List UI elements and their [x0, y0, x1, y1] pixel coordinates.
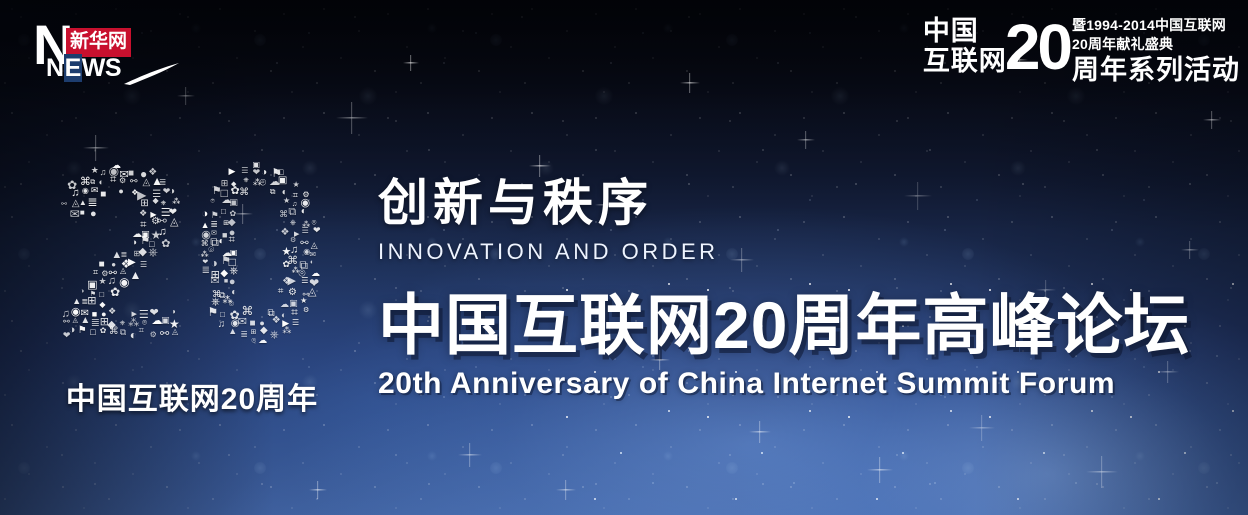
user-icon: ⌗: [229, 235, 235, 246]
play-icon: ◑: [171, 308, 176, 316]
event-lockup-big-number: 20: [1005, 14, 1070, 78]
event-lockup-line2: 互联网: [923, 46, 1007, 76]
inbox-icon: ◬: [308, 287, 316, 298]
eye-icon: ⌾: [229, 300, 234, 309]
home-icon: ⚙: [150, 331, 157, 339]
eye-icon: ⌗: [110, 175, 116, 186]
headline-block: 创新与秩序 INNOVATION AND ORDER 中国互联网20周年高峰论坛…: [378, 175, 1213, 403]
book-icon: ⌗: [293, 191, 298, 200]
title-chinese: 中国互联网20周年高峰论坛: [378, 289, 1213, 361]
briefcase-icon: ⚯: [61, 201, 67, 208]
book-icon: ▶: [228, 167, 235, 176]
contrast-icon: ◆: [139, 247, 147, 258]
heart-icon: ☁: [280, 300, 289, 309]
cloud-icon: ☰: [301, 277, 308, 285]
credit-card-icon: ✿: [100, 327, 107, 335]
emblem-caption: 中国互联网20周年: [22, 383, 362, 417]
icon-mosaic-number: ☁▣★♫◉✉■●❖▶☰❤◑⚑□✿⌘⧉◐⌗⚙⚯◬▲≣⊞◆⎈⁂⌾☁▣★♫◉✉■●❖▶…: [22, 160, 362, 375]
play-icon: ◑: [202, 209, 209, 220]
tag-icon: ⚯: [130, 177, 138, 186]
briefcase-icon: ❤: [253, 168, 261, 177]
settings-icon: ⎈: [148, 246, 158, 258]
store-icon: ✉: [210, 276, 219, 287]
wifi-icon: ◐: [99, 178, 104, 187]
icon-mosaic-emblem: ☁▣★♫◉✉■●❖▶☰❤◑⚑□✿⌘⧉◐⌗⚙⚯◬▲≣⊞◆⎈⁂⌾☁▣★♫◉✉■●❖▶…: [22, 160, 362, 415]
heart-icon: ⚙: [119, 177, 126, 185]
store-icon: ⊞: [251, 329, 257, 336]
settings-icon: ⧉: [288, 207, 296, 218]
settings-icon: ●: [118, 187, 123, 196]
shopping-basket-icon: ☰: [241, 167, 248, 175]
printer-icon: ⎈: [161, 200, 167, 207]
link-icon: ◑: [69, 325, 76, 336]
tumblr-icon: ⧉: [120, 328, 126, 337]
play-icon: ★: [98, 277, 106, 286]
heart-icon: ☰: [302, 227, 309, 235]
monitor-icon: ✉: [238, 317, 247, 328]
paper-plane-icon: ◐: [301, 207, 307, 217]
list-icon: □: [220, 311, 225, 319]
play-icon: ◬: [311, 241, 318, 250]
code-icon: ▲: [130, 269, 142, 281]
event-lockup-line1: 中国: [923, 16, 1007, 46]
link-icon: ★: [283, 197, 290, 205]
eye-icon: ⌾: [210, 198, 214, 205]
facebook-icon: ★: [91, 166, 99, 175]
heart-icon: ☰: [292, 319, 299, 327]
event-lockup-cn-stack: 中国 互联网: [923, 14, 1007, 76]
calendar-icon: ▲: [72, 297, 81, 306]
wifi-icon: ❖: [281, 228, 290, 238]
contrast-icon: ■: [100, 190, 106, 200]
calendar-icon: ♫: [218, 320, 226, 330]
book-icon: ⌗: [278, 287, 284, 297]
envelope-icon: ⌾: [208, 246, 214, 256]
logo-news-wordmark: NEWS: [46, 56, 121, 81]
monitor-icon: ⊞: [87, 296, 96, 307]
list-icon: ≣: [240, 330, 248, 339]
shopping-cart-icon: ⚯: [160, 329, 169, 340]
play-icon: ★: [292, 181, 299, 189]
event-lockup: 中国 互联网 20 暨1994-2014中国互联网 20周年献礼盛典 周年系列活…: [923, 14, 1240, 85]
paper-plane-icon: ⁂: [282, 326, 291, 335]
tumblr-icon: ●: [90, 209, 97, 220]
tumblr-icon: ⎈: [243, 177, 249, 184]
credit-card-icon: ✿: [161, 239, 170, 250]
twitter-bird-icon: ⌘: [109, 327, 119, 337]
kicker-chinese: 创新与秩序: [378, 175, 1213, 231]
clock-icon: ◐: [130, 329, 137, 341]
list-icon: ◉: [119, 276, 129, 288]
cloud-icon: ☁: [258, 336, 267, 345]
wifi-icon: ◐: [310, 259, 314, 266]
event-lockup-right-column: 暨1994-2014中国互联网 20周年献礼盛典 周年系列活动: [1072, 14, 1240, 85]
tag-icon: ❤: [313, 226, 321, 235]
logo-news-n: N: [46, 54, 64, 82]
camera-icon: □: [99, 291, 104, 299]
list-icon: ◉: [82, 187, 89, 195]
calendar-icon: ♫: [158, 227, 166, 238]
tv-icon: ⌘: [287, 256, 298, 267]
tv-icon: ◆: [153, 197, 159, 205]
tag-icon: ▣: [229, 198, 238, 207]
music-note-icon: ✉: [309, 251, 316, 259]
facebook-icon: ◬: [170, 217, 178, 228]
list-icon: □: [221, 208, 226, 216]
swoosh-icon: [123, 62, 181, 86]
envelope-icon: ⌗: [291, 306, 298, 318]
shopping-cart-icon: ▣: [278, 176, 287, 186]
clock-icon: ❖: [108, 307, 116, 316]
facebook-icon: ◑: [169, 187, 175, 197]
speaker-icon: ≣: [202, 266, 210, 276]
shopping-basket-icon: ⚙: [288, 288, 297, 298]
user-icon: ⌾: [260, 178, 267, 189]
crown-icon: ▲: [228, 327, 237, 336]
event-lockup-subtitle-2: 20周年献礼盛典: [1072, 35, 1240, 54]
home-icon: ⚙: [290, 237, 296, 244]
event-banner: N 新华网 NEWS 中国 互联网 20 暨1994-2014中国互联网 20周…: [0, 0, 1248, 515]
speaker-icon: □: [90, 328, 95, 337]
xinhua-logo[interactable]: N 新华网 NEWS: [33, 24, 163, 82]
link-icon: ★: [300, 297, 307, 305]
crown-icon: ⚑: [208, 306, 219, 318]
contrast-icon: ■: [224, 278, 228, 285]
star-icon: ♫: [100, 168, 107, 177]
bell-icon: ≣: [87, 196, 97, 208]
contrast-icon: ⌘: [279, 210, 288, 219]
event-lockup-subtitle-3: 周年系列活动: [1072, 55, 1240, 85]
link-icon: ◬: [142, 178, 150, 188]
event-lockup-subtitle-1: 暨1994-2014中国互联网: [1072, 16, 1240, 35]
twitter-bird-icon: ■: [80, 209, 85, 217]
music-note-icon: ✿: [110, 286, 120, 298]
camera-icon: ≣: [210, 220, 218, 229]
envelope-icon: ▶: [287, 276, 295, 287]
play-icon: ◬: [172, 328, 178, 336]
code-icon: ⚑: [78, 326, 87, 336]
settings-icon: ⎈: [270, 330, 279, 341]
microphone-icon: ⌘: [239, 188, 249, 198]
inbox-icon: ◑: [211, 257, 218, 269]
tv-icon: ■: [249, 319, 255, 329]
kicker-english: INNOVATION AND ORDER: [378, 237, 1213, 267]
contrast-icon: ⌘: [241, 305, 253, 317]
title-english: 20th Anniversary of China Internet Summi…: [378, 365, 1213, 403]
logo-news-e: E: [64, 54, 82, 82]
facebook-icon: ◑: [80, 288, 84, 295]
location-pin-icon: ⧉: [270, 188, 276, 196]
clock-icon: ❖: [139, 209, 147, 218]
envelope-icon: ⌾: [251, 337, 256, 345]
tv-icon: ◆: [99, 301, 105, 309]
wifi-icon: ⁂: [172, 198, 180, 206]
shopping-cart-icon: ▣: [87, 280, 97, 291]
settings-icon: ●: [229, 277, 236, 288]
cloud-icon: ⚙: [303, 307, 309, 314]
link-icon: ◑: [132, 238, 137, 247]
credit-card-icon: ✉: [70, 208, 80, 220]
user-icon: ⌗: [139, 326, 144, 335]
shopping-basket-icon: ☰: [140, 261, 147, 269]
location-pin-icon: ⎈: [290, 219, 296, 227]
lock-icon: ⁂: [128, 318, 139, 329]
chat-bubble-icon: ⚯: [157, 215, 167, 227]
wifi-icon: ❖: [272, 316, 281, 326]
book-icon: ▶: [128, 258, 136, 268]
logo-news-ws: WS: [82, 54, 121, 82]
logo-chinese-name: 新华网: [66, 28, 131, 57]
clock-icon: ◐: [219, 237, 225, 247]
calendar-icon: ▲: [79, 199, 87, 207]
